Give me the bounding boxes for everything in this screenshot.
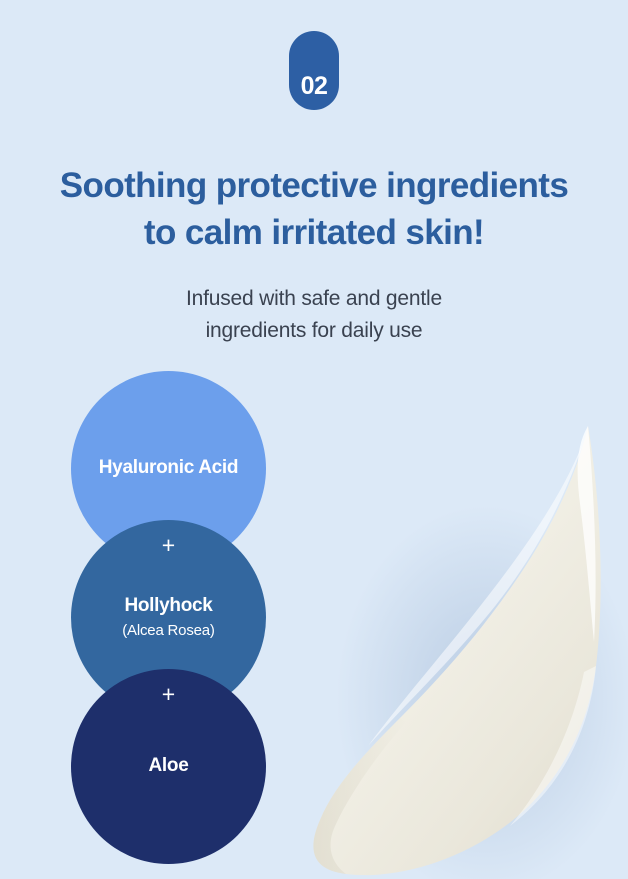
ingredient-name: Aloe: [149, 755, 189, 778]
ingredient-scientific-name: (Alcea Rosea): [122, 622, 214, 640]
page-subtitle: Infused with safe and gentle ingredients…: [0, 283, 628, 347]
page-subtitle-line-1: Infused with safe and gentle: [0, 283, 628, 315]
page-title-line-1: Soothing protective ingredients: [0, 163, 628, 209]
step-number-badge: 02: [289, 31, 339, 110]
ingredient-feature-panel: 02 Soothing protective ingredients to ca…: [0, 0, 628, 879]
ingredient-circle-group: Hyaluronic Acid + Hollyhock (Alcea Rosea…: [71, 371, 267, 861]
ingredient-name: Hollyhock: [124, 595, 212, 618]
ingredient-name: Hyaluronic Acid: [99, 457, 238, 480]
cream-swatch-image: [276, 400, 628, 879]
plus-icon: +: [71, 683, 266, 706]
page-subtitle-line-2: ingredients for daily use: [0, 315, 628, 347]
page-title: Soothing protective ingredients to calm …: [0, 163, 628, 255]
plus-icon: +: [71, 534, 266, 557]
step-number-label: 02: [301, 74, 328, 99]
page-title-line-2: to calm irritated skin!: [0, 210, 628, 256]
